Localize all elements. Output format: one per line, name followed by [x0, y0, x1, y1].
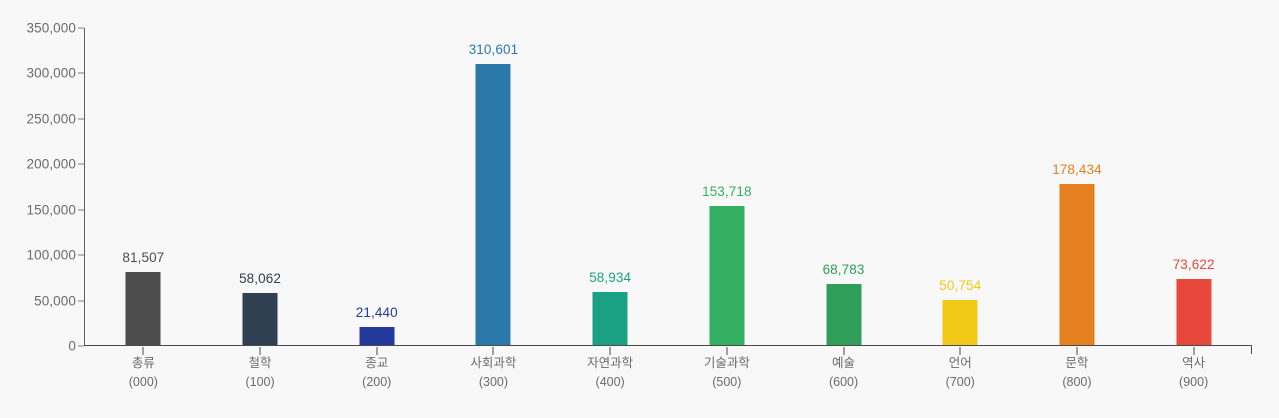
bar-group: 50,754	[902, 28, 1019, 346]
y-axis-tick-label: 200,000	[27, 157, 77, 172]
category-name: 사회과학	[470, 354, 516, 373]
bar[interactable]	[709, 206, 744, 346]
category-name: 예술	[829, 354, 858, 373]
bar-group: 73,622	[1135, 28, 1252, 346]
bar-group: 58,934	[552, 28, 669, 346]
y-axis: 350,000300,000250,000200,000150,000100,0…	[0, 0, 90, 418]
bar[interactable]	[593, 292, 628, 346]
bar[interactable]	[359, 327, 394, 346]
bar-value-label: 58,062	[239, 271, 281, 286]
bar-value-label: 178,434	[1052, 162, 1102, 177]
y-axis-tick-label: 150,000	[27, 202, 77, 217]
category-code: (200)	[362, 373, 391, 392]
x-axis-end-cap	[1251, 345, 1252, 354]
bar-group: 153,718	[669, 28, 786, 346]
category-name: 총류	[129, 354, 158, 373]
category-code: (400)	[587, 373, 633, 392]
bar[interactable]	[476, 64, 511, 346]
bar[interactable]	[826, 284, 861, 346]
x-axis-category-label: 사회과학(300)	[470, 354, 516, 392]
category-name: 기술과학	[704, 354, 750, 373]
category-code: (000)	[129, 373, 158, 392]
bar[interactable]	[1176, 279, 1211, 346]
bar-chart: 350,000300,000250,000200,000150,000100,0…	[0, 0, 1279, 418]
category-name: 종교	[362, 354, 391, 373]
bar[interactable]	[1059, 184, 1094, 346]
bar-group: 310,601	[435, 28, 552, 346]
x-axis-category-label: 철학(100)	[245, 354, 274, 392]
x-axis-labels: 총류(000)철학(100)종교(200)사회과학(300)자연과학(400)기…	[85, 354, 1252, 410]
bar-value-label: 21,440	[356, 305, 398, 320]
y-axis-tick-label: 300,000	[27, 66, 77, 81]
bar[interactable]	[943, 300, 978, 346]
category-name: 철학	[245, 354, 274, 373]
bar-group: 68,783	[785, 28, 902, 346]
x-axis-category-label: 총류(000)	[129, 354, 158, 392]
category-name: 자연과학	[587, 354, 633, 373]
bar[interactable]	[243, 293, 278, 346]
plot-area: 81,50758,06221,440310,60158,934153,71868…	[85, 28, 1252, 346]
category-code: (300)	[470, 373, 516, 392]
y-axis-tick-label: 50,000	[34, 293, 76, 308]
category-name: 언어	[946, 354, 975, 373]
y-axis-tick-label: 0	[68, 339, 76, 354]
bar-value-label: 81,507	[122, 250, 164, 265]
bar-value-label: 73,622	[1173, 257, 1215, 272]
x-axis-category-label: 언어(700)	[946, 354, 975, 392]
bar-value-label: 68,783	[823, 262, 865, 277]
bar[interactable]	[126, 272, 161, 346]
x-axis-category-label: 문학(800)	[1062, 354, 1091, 392]
y-axis-tick-label: 350,000	[27, 21, 77, 36]
category-code: (100)	[245, 373, 274, 392]
bar-group: 21,440	[318, 28, 435, 346]
category-code: (600)	[829, 373, 858, 392]
category-code: (500)	[704, 373, 750, 392]
bar-value-label: 58,934	[589, 270, 631, 285]
bar-group: 81,507	[85, 28, 202, 346]
category-code: (800)	[1062, 373, 1091, 392]
x-axis-category-label: 예술(600)	[829, 354, 858, 392]
bar-value-label: 310,601	[469, 42, 519, 57]
x-axis-category-label: 기술과학(500)	[704, 354, 750, 392]
bar-value-label: 153,718	[702, 184, 752, 199]
bar-group: 178,434	[1019, 28, 1136, 346]
x-axis-category-label: 역사(900)	[1179, 354, 1208, 392]
x-axis-line	[84, 345, 1252, 346]
x-axis-category-label: 종교(200)	[362, 354, 391, 392]
category-name: 문학	[1062, 354, 1091, 373]
bar-value-label: 50,754	[939, 278, 981, 293]
category-code: (900)	[1179, 373, 1208, 392]
bar-group: 58,062	[202, 28, 319, 346]
y-axis-tick-label: 100,000	[27, 248, 77, 263]
x-axis-category-label: 자연과학(400)	[587, 354, 633, 392]
y-axis-tick-label: 250,000	[27, 111, 77, 126]
category-name: 역사	[1179, 354, 1208, 373]
category-code: (700)	[946, 373, 975, 392]
